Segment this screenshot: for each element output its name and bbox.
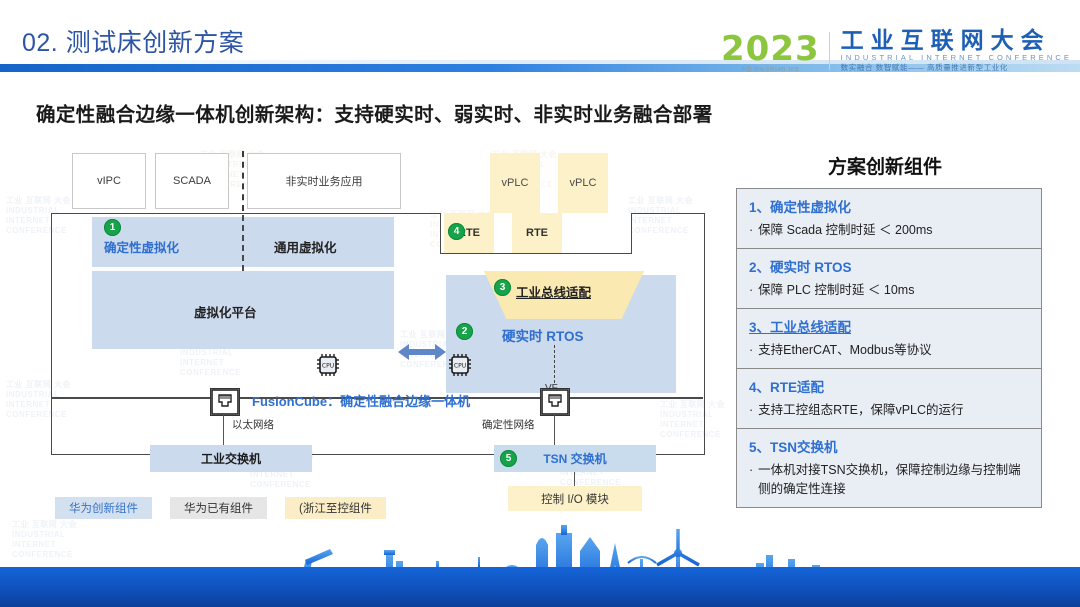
city-skyline-icon	[0, 519, 1080, 607]
marker-2: 2	[456, 323, 473, 340]
logo-date: 中国·苏州 8月14日-18日	[741, 66, 799, 73]
component-card-2: 2、硬实时 RTOS · 保障 PLC 控制时延 ＜ 10ms	[737, 249, 1041, 309]
panel-title: 方案创新组件	[828, 152, 942, 179]
bullet-icon: ·	[749, 281, 753, 300]
legend-item-zhejiang-zhikong: (浙江至控组件	[285, 497, 386, 519]
app-box-vipc: vIPC	[72, 153, 146, 209]
io-module-box: 控制 I/O 模块	[508, 486, 642, 511]
marker-3: 3	[494, 279, 511, 296]
app-box-scada: SCADA	[155, 153, 229, 209]
vplc-box-2: vPLC	[558, 153, 608, 213]
label-hard-realtime-rtos: 硬实时 RTOS	[502, 325, 584, 345]
vf-dashed-link	[554, 345, 555, 383]
legend-item-huawei-existing: 华为已有组件	[170, 497, 267, 519]
cpu-icon: CPU	[448, 353, 474, 377]
component-card-body-text: 保障 Scada 控制时延 ＜ 200ms	[758, 221, 932, 240]
component-card-1: 1、确定性虚拟化 · 保障 Scada 控制时延 ＜ 200ms	[737, 189, 1041, 249]
component-card-heading: 1、确定性虚拟化	[749, 196, 1029, 216]
component-card-body: · 支持工控组态RTE，保障vPLC的运行	[749, 401, 1029, 420]
component-card-body-text: 支持工控组态RTE，保障vPLC的运行	[758, 401, 963, 420]
label-ethernet-network: 以太网络	[232, 417, 274, 432]
label-general-virtualization: 通用虚拟化	[274, 237, 337, 256]
logo-chinese-title: 工业互联网大会	[841, 28, 1072, 53]
label-industrial-bus-adapter: 工业总线适配	[516, 282, 591, 301]
svg-text:CPU: CPU	[454, 363, 466, 370]
deterministic-link-line	[554, 415, 555, 445]
industrial-switch-box: 工业交换机	[150, 445, 312, 472]
watermark: 工业 互联网 大会 INDUSTRIAL INTERNET CONFERENCE	[12, 520, 77, 560]
page-title: 02. 测试床创新方案	[22, 23, 244, 59]
label-fusioncube: FusionCube：确定性融合边缘一体机	[252, 391, 470, 410]
component-card-heading: 5、TSN交换机	[749, 436, 1029, 456]
logo-year-text: 2023	[721, 34, 820, 64]
bullet-icon: ·	[749, 221, 753, 240]
innovation-components-panel: 1、确定性虚拟化 · 保障 Scada 控制时延 ＜ 200ms 2、硬实时 R…	[736, 188, 1042, 508]
component-card-body-text: 保障 PLC 控制时延 ＜ 10ms	[758, 281, 914, 300]
logo-english-title: INDUSTRIAL INTERNET CONFERENCE	[841, 53, 1072, 63]
bottom-decoration	[0, 519, 1080, 607]
label-deterministic-network: 确定性网络	[482, 417, 535, 432]
tsn-io-link-line	[574, 472, 575, 486]
tsn-switch-box: TSN 交换机	[494, 445, 656, 472]
application-divider	[242, 151, 244, 211]
bullet-icon: ·	[749, 341, 753, 360]
vplc-box-1: vPLC	[490, 153, 540, 213]
bullet-icon: ·	[749, 461, 753, 499]
logo-divider	[829, 32, 830, 70]
slide: 工业 互联网 大会 INDUSTRIAL INTERNET CONFERENCE…	[0, 0, 1080, 607]
svg-text:CPU: CPU	[322, 363, 334, 370]
rj45-port-icon	[540, 388, 570, 416]
component-card-body: · 保障 PLC 控制时延 ＜ 10ms	[749, 281, 1029, 300]
logo-subtitle: 数实融合 数智赋能—— 高质量推进新型工业化	[841, 63, 1072, 73]
component-card-heading: 2、硬实时 RTOS	[749, 256, 1029, 276]
bottom-gradient-band	[0, 567, 1080, 607]
bidirectional-arrow-icon	[398, 341, 446, 363]
conference-logo: 2023 中国·苏州 8月14日-18日 工业互联网大会 INDUSTRIAL …	[721, 28, 1072, 73]
virtualization-divider	[242, 215, 244, 271]
rj45-port-icon	[210, 388, 240, 416]
component-card-body: · 一体机对接TSN交换机，保障控制边缘与控制端侧的确定性连接	[749, 461, 1029, 499]
marker-4: 4	[448, 223, 465, 240]
component-card-3: 3、工业总线适配 · 支持EtherCAT、Modbus等协议	[737, 309, 1041, 369]
logo-year-value: 2023	[721, 29, 820, 69]
slide-heading: 确定性融合边缘一体机创新架构：支持硬实时、弱实时、非实时业务融合部署	[36, 98, 713, 127]
marker-1: 1	[104, 219, 121, 236]
legend-item-huawei-innovation: 华为创新组件	[55, 497, 152, 519]
architecture-diagram: vIPC SCADA 非实时业务应用 vPLC vPLC 1 确定性虚拟化 通用…	[42, 145, 712, 520]
app-box-non-realtime: 非实时业务应用	[247, 153, 401, 209]
application-row: vIPC SCADA 非实时业务应用	[72, 153, 401, 209]
component-card-body: · 支持EtherCAT、Modbus等协议	[749, 341, 1029, 360]
component-card-4: 4、RTE适配 · 支持工控组态RTE，保障vPLC的运行	[737, 369, 1041, 429]
label-deterministic-virtualization: 确定性虚拟化	[104, 237, 179, 256]
vplc-row: vPLC vPLC	[490, 153, 608, 213]
bullet-icon: ·	[749, 401, 753, 420]
rte-box-2: RTE	[512, 213, 562, 253]
component-card-heading: 4、RTE适配	[749, 376, 1029, 396]
component-card-body-text: 支持EtherCAT、Modbus等协议	[758, 341, 931, 360]
component-card-body-text: 一体机对接TSN交换机，保障控制边缘与控制端侧的确定性连接	[758, 461, 1029, 499]
component-card-body: · 保障 Scada 控制时延 ＜ 200ms	[749, 221, 1029, 240]
tsn-switch-label: TSN 交换机	[543, 450, 606, 467]
cpu-icon: CPU	[316, 353, 342, 377]
label-virtualization-platform: 虚拟化平台	[194, 302, 257, 321]
legend: 华为创新组件 华为已有组件 (浙江至控组件	[55, 497, 386, 519]
ethernet-link-line	[223, 415, 224, 445]
marker-5: 5	[500, 450, 517, 467]
component-card-5: 5、TSN交换机 · 一体机对接TSN交换机，保障控制边缘与控制端侧的确定性连接	[737, 429, 1041, 507]
component-card-heading: 3、工业总线适配	[749, 316, 1029, 336]
